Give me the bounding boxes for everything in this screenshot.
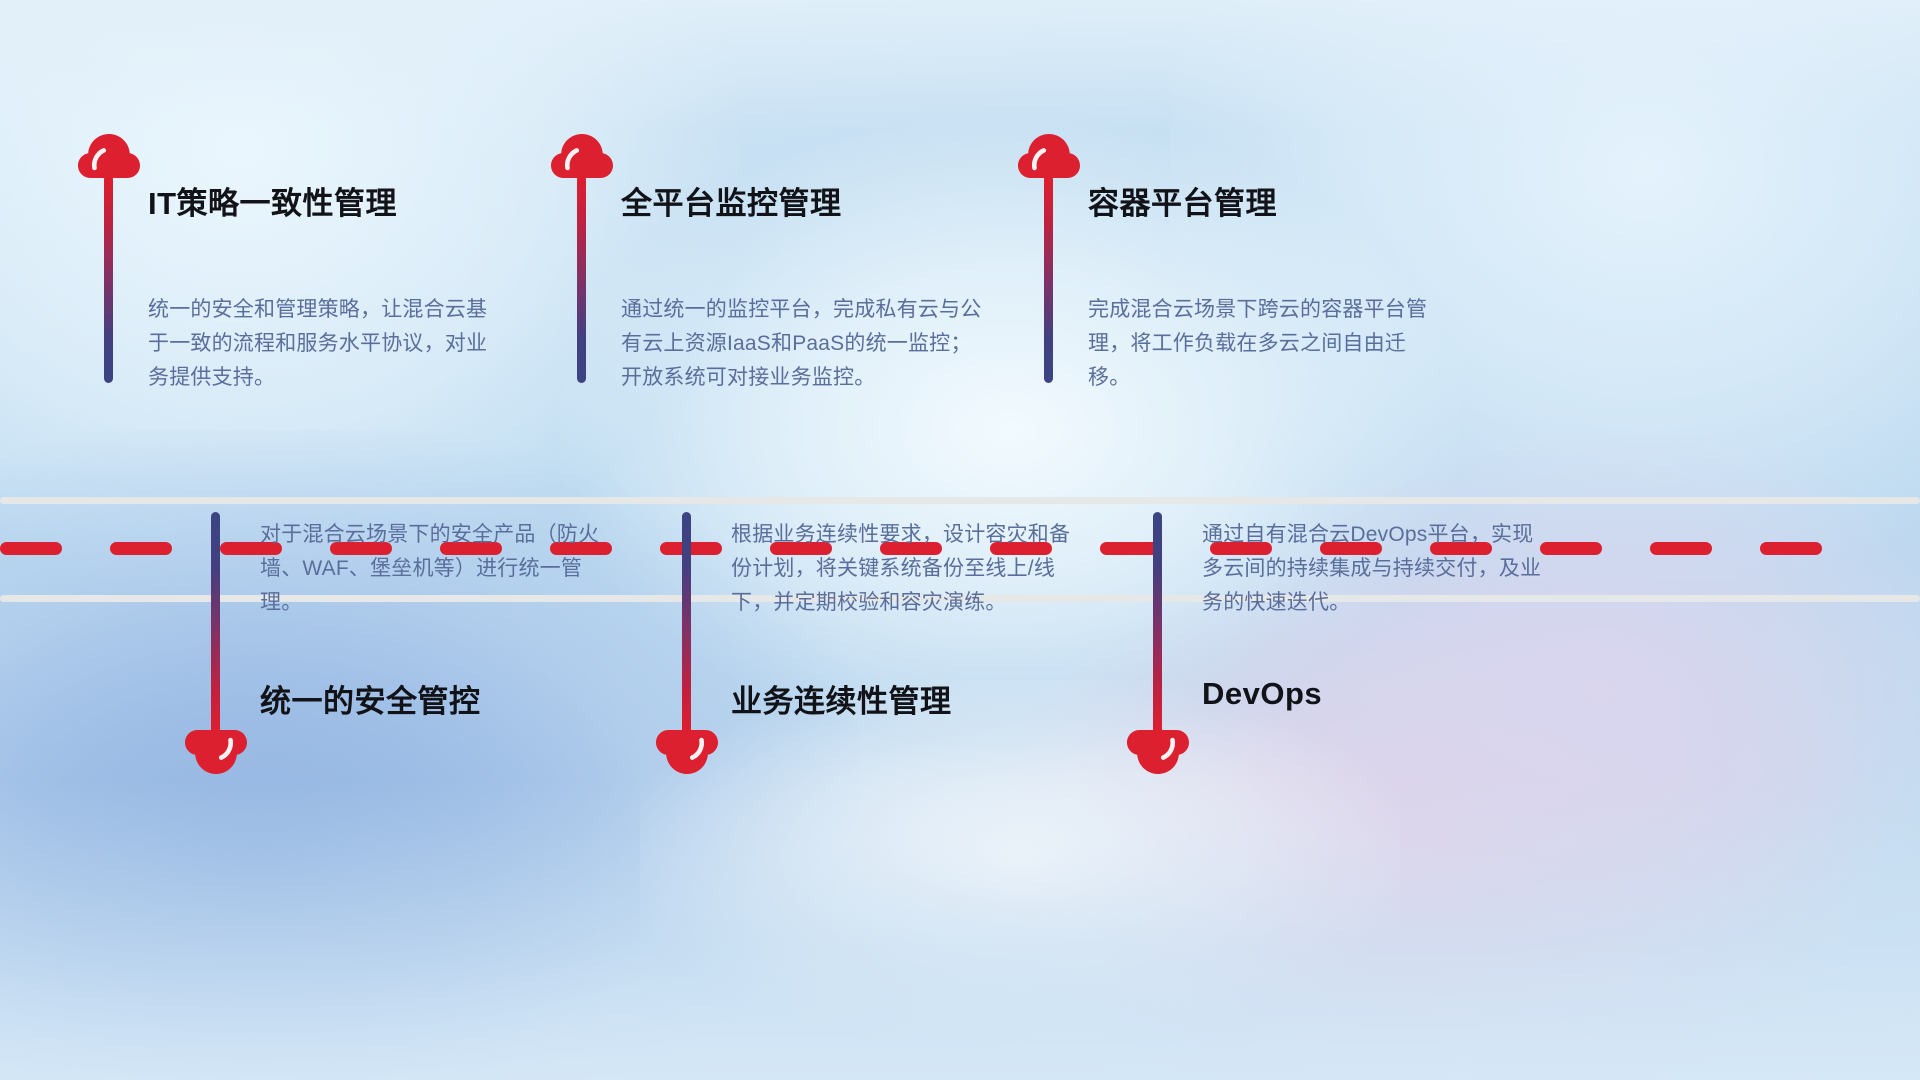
bottom-column-2-body: 根据业务连续性要求，设计容灾和备份计划，将关键系统备份至线上/线下，并定期校验和… <box>731 518 1081 620</box>
divider-rail-top <box>0 497 1920 504</box>
bottom-column-2-title: 业务连续性管理 <box>731 676 952 721</box>
bottom-column-3-title: DevOps <box>1202 676 1322 712</box>
infographic-canvas: IT策略一致性管理 统一的安全和管理策略，让混合云基于一致的流程和服务水平协议，… <box>0 0 1920 1080</box>
divider-dash-segment <box>110 542 172 555</box>
bottom-column-1-title: 统一的安全管控 <box>260 676 481 721</box>
cloud-icon <box>551 132 613 178</box>
top-column-2-title: 全平台监控管理 <box>621 178 842 223</box>
top-column-1-title: IT策略一致性管理 <box>148 178 397 223</box>
connector-stem <box>1153 512 1162 734</box>
top-column-3-title: 容器平台管理 <box>1088 178 1277 223</box>
cloud-icon <box>1127 730 1189 776</box>
connector-stem <box>577 175 586 383</box>
connector-stem <box>682 512 691 734</box>
cloud-icon <box>78 132 140 178</box>
divider-dash-segment <box>660 542 722 555</box>
connector-stem <box>1044 175 1053 383</box>
divider-dash-segment <box>0 542 62 555</box>
connector-stem <box>211 512 220 734</box>
connector-stem <box>104 175 113 383</box>
divider-dash-segment <box>1650 542 1712 555</box>
bottom-column-3-body: 通过自有混合云DevOps平台，实现多云间的持续集成与持续交付，及业务的快速迭代… <box>1202 518 1552 620</box>
top-column-3-body: 完成混合云场景下跨云的容器平台管理，将工作负载在多云之间自由迁移。 <box>1088 293 1448 395</box>
cloud-icon <box>1018 132 1080 178</box>
background-top-fade <box>0 0 1920 130</box>
top-column-1-body: 统一的安全和管理策略，让混合云基于一致的流程和服务水平协议，对业务提供支持。 <box>148 293 508 395</box>
cloud-icon <box>185 730 247 776</box>
top-column-2-body: 通过统一的监控平台，完成私有云与公有云上资源IaaS和PaaS的统一监控；开放系… <box>621 293 991 395</box>
bottom-column-1-body: 对于混合云场景下的安全产品（防火墙、WAF、堡垒机等）进行统一管理。 <box>260 518 610 620</box>
cloud-icon <box>656 730 718 776</box>
background-bottom-fade <box>0 780 1920 1080</box>
divider-dash-segment <box>1760 542 1822 555</box>
